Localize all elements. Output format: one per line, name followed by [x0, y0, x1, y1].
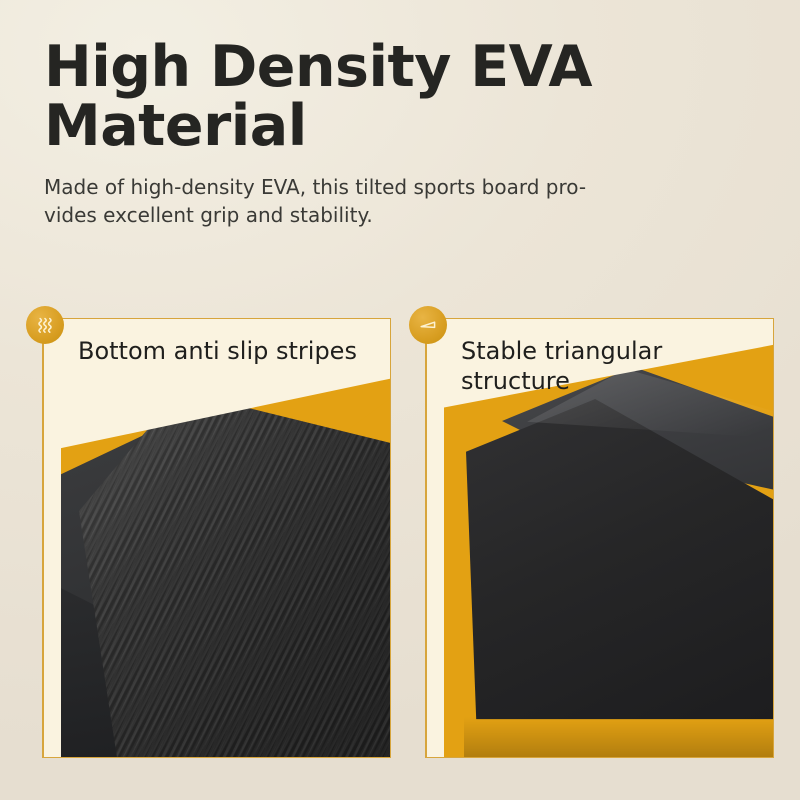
product-photo-backdrop: [61, 333, 391, 758]
feature-panel-anti-slip-stripes: Bottom anti slip stripes: [26, 306, 391, 758]
page-title: High Density EVA Material: [44, 38, 684, 157]
panel-frame: [42, 318, 391, 758]
product-image-anti-slip: [61, 333, 391, 758]
panel-heading-label: Stable triangular structure: [461, 336, 760, 396]
infographic-page: High Density EVA Material Made of high-d…: [0, 0, 800, 800]
header: High Density EVA Material Made of high-d…: [44, 38, 744, 229]
panel-heading-block: Stable triangular structure: [461, 336, 760, 396]
panel-heading-label: Bottom anti slip stripes: [78, 336, 377, 366]
wedge-base-shadow: [464, 717, 774, 758]
page-subtitle: Made of high-density EVA, this tilted sp…: [44, 173, 604, 230]
wavy-stripes-icon: [26, 306, 64, 344]
product-image-triangular: [444, 333, 774, 758]
feature-panel-triangular-structure: Stable triangular structure: [409, 306, 774, 758]
product-photo-backdrop: [444, 333, 774, 758]
feature-panels: Bottom anti slip stripes: [26, 306, 774, 776]
panel-left-rail: [42, 332, 44, 758]
right-triangle-wedge-icon: [409, 306, 447, 344]
panel-heading-block: Bottom anti slip stripes: [78, 336, 377, 366]
panel-left-rail: [425, 332, 427, 758]
